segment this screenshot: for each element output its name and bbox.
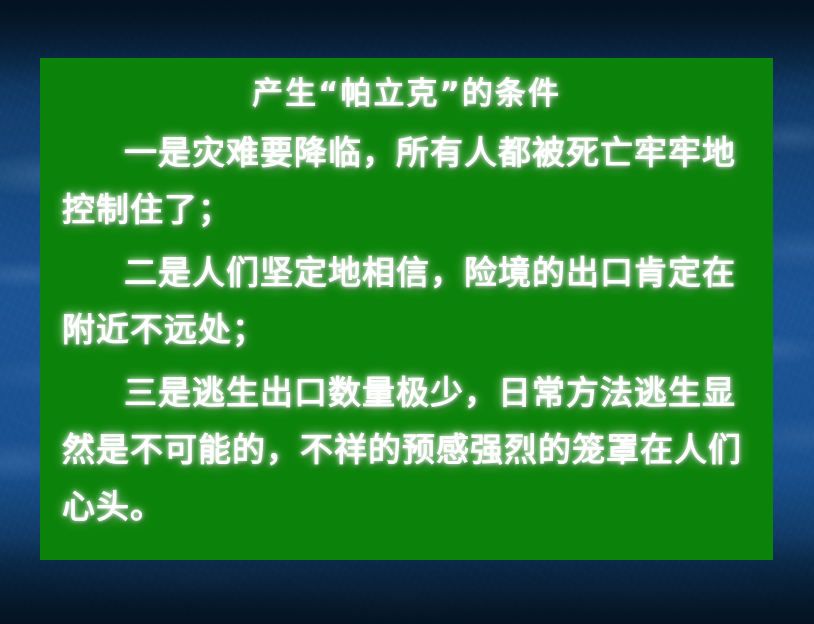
body-paragraph-3: 三是逃生出口数量极少，日常方法逃生显然是不可能的，不祥的预感强烈的笼罩在人们心头… [62, 364, 751, 535]
presentation-slide: 产生“帕立克”的条件 一是灾难要降临，所有人都被死亡牢牢地控制住了； 二是人们坚… [0, 0, 814, 624]
slide-title: 产生“帕立克”的条件 [62, 72, 751, 116]
content-panel: 产生“帕立克”的条件 一是灾难要降临，所有人都被死亡牢牢地控制住了； 二是人们坚… [40, 58, 773, 560]
body-paragraph-2: 二是人们坚定地相信，险境的出口肯定在附近不远处； [62, 244, 751, 358]
body-paragraph-1: 一是灾难要降临，所有人都被死亡牢牢地控制住了； [62, 124, 751, 238]
